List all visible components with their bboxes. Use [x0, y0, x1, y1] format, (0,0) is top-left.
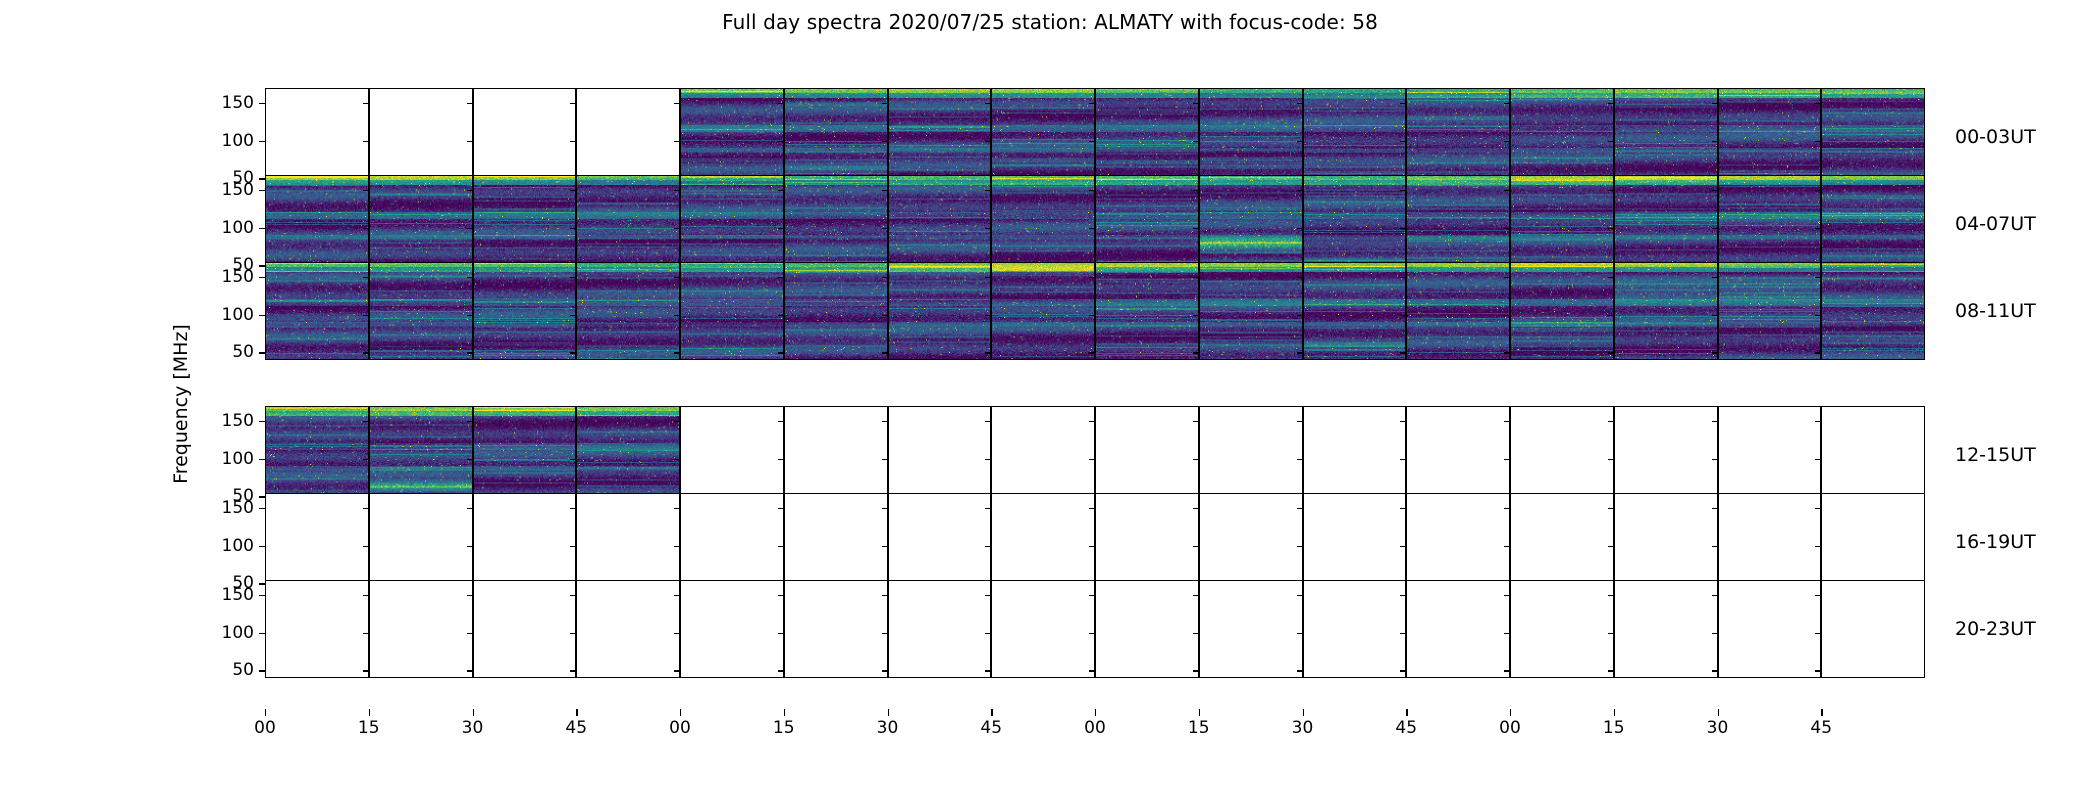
- spectrogram-panel[interactable]: [1303, 88, 1407, 186]
- y-tick-mark: [1297, 190, 1303, 191]
- y-tick-mark: [1297, 315, 1303, 316]
- spectrogram-panel[interactable]: [784, 88, 888, 186]
- y-tick-mark: [674, 103, 680, 104]
- y-tick-mark: [1400, 352, 1406, 353]
- x-tick-label: 45: [980, 718, 1002, 738]
- y-tick-mark: [363, 670, 369, 671]
- y-tick-mark: [570, 633, 576, 634]
- spectrogram-panel[interactable]: [1406, 175, 1510, 273]
- y-tick-mark: [1712, 352, 1718, 353]
- x-tick-label: 45: [1810, 718, 1832, 738]
- spectrogram-image: [1200, 263, 1302, 359]
- spectrogram-panel[interactable]: [1199, 175, 1303, 273]
- spectrogram-panel[interactable]: [473, 175, 577, 273]
- y-tick-mark: [1504, 277, 1510, 278]
- y-tick-mark: [1297, 421, 1303, 422]
- y-tick-mark: [363, 315, 369, 316]
- spectrogram-panel[interactable]: [576, 406, 680, 504]
- spectrogram-image: [1407, 263, 1509, 359]
- y-tick-mark: [570, 315, 576, 316]
- spectrogram-image: [1511, 89, 1613, 185]
- spectrogram-panel[interactable]: [473, 493, 577, 591]
- spectrogram-panel[interactable]: [1199, 88, 1303, 186]
- spectrogram-image: [785, 89, 887, 185]
- y-tick-mark: [1193, 352, 1199, 353]
- y-tick-mark: [363, 190, 369, 191]
- spectrogram-row: 50100150: [265, 262, 1925, 360]
- spectrogram-panel[interactable]: [1406, 262, 1510, 360]
- x-tick-mark: [888, 709, 889, 716]
- spectrogram-image: [681, 89, 783, 185]
- y-tick-mark: [1400, 141, 1406, 142]
- spectrogram-image: [1407, 89, 1509, 185]
- y-tick-mark: [985, 103, 991, 104]
- y-tick-mark: [1193, 508, 1199, 509]
- spectrogram-panel[interactable]: [680, 580, 784, 678]
- y-tick-mark: [467, 670, 473, 671]
- spectrogram-panel[interactable]: [369, 88, 473, 186]
- spectrogram-image: [1304, 176, 1406, 272]
- y-tick-mark: [674, 141, 680, 142]
- y-tick-mark: [467, 103, 473, 104]
- y-tick-mark: [1089, 141, 1095, 142]
- y-tick-mark: [1297, 459, 1303, 460]
- spectrogram-panel[interactable]: [1718, 175, 1822, 273]
- y-tick-mark: [778, 315, 784, 316]
- y-tick-mark: [363, 228, 369, 229]
- spectrogram-panel[interactable]: [1718, 88, 1822, 186]
- y-tick-mark: [363, 141, 369, 142]
- spectrogram-panel[interactable]: [369, 493, 473, 591]
- spectrogram-image: [577, 407, 679, 503]
- y-tick-mark: [467, 633, 473, 634]
- x-tick-mark: [1510, 709, 1511, 716]
- y-tick-mark: [363, 508, 369, 509]
- spectrogram-panel[interactable]: [1510, 88, 1614, 186]
- spectrogram-image: [785, 176, 887, 272]
- spectrogram-panel[interactable]: [1095, 88, 1199, 186]
- y-tick-mark: [1504, 595, 1510, 596]
- x-tick-label: 15: [358, 718, 380, 738]
- spectrogram-panel[interactable]: [1510, 406, 1614, 504]
- spectrogram-panel[interactable]: [1303, 406, 1407, 504]
- y-tick-mark: [363, 459, 369, 460]
- spectrogram-panel[interactable]: [576, 580, 680, 678]
- y-tick-mark: [882, 633, 888, 634]
- x-tick-label: 30: [1707, 718, 1729, 738]
- spectrogram-image: [1822, 176, 1924, 272]
- y-tick-mark: [1608, 508, 1614, 509]
- y-tick-mark: [467, 421, 473, 422]
- y-tick-mark: [1504, 315, 1510, 316]
- x-tick-mark: [680, 709, 681, 716]
- y-tick-mark: [985, 421, 991, 422]
- spectrogram-panel[interactable]: [1510, 493, 1614, 591]
- y-tick-mark: [882, 277, 888, 278]
- y-tick-mark: [778, 141, 784, 142]
- y-tick-mark: [882, 670, 888, 671]
- y-tick-mark: [1815, 421, 1821, 422]
- spectrogram-panel[interactable]: [1510, 580, 1614, 678]
- y-tick-mark: [674, 315, 680, 316]
- y-tick-mark: [1089, 508, 1095, 509]
- y-tick-mark: [1193, 595, 1199, 596]
- y-tick-mark: [882, 228, 888, 229]
- spectrogram-panel[interactable]: [1718, 493, 1822, 591]
- x-tick-mark: [265, 709, 266, 716]
- y-tick-mark: [1712, 595, 1718, 596]
- y-tick-mark: [674, 277, 680, 278]
- spectrogram-image: [266, 176, 368, 272]
- spectrogram-panel[interactable]: [1718, 580, 1822, 678]
- spectrogram-panel[interactable]: [784, 580, 888, 678]
- y-tick-mark: [882, 352, 888, 353]
- y-tick-mark: [1608, 352, 1614, 353]
- spectrogram-image: [992, 263, 1094, 359]
- spectrogram-panel[interactable]: [680, 88, 784, 186]
- y-tick-mark: [1712, 277, 1718, 278]
- y-tick-mark: [1089, 546, 1095, 547]
- x-tick-mark: [473, 709, 474, 716]
- spectrogram-panel[interactable]: [1303, 175, 1407, 273]
- y-tick-mark: [1297, 352, 1303, 353]
- y-tick-mark: [259, 103, 265, 104]
- y-tick-mark: [1815, 103, 1821, 104]
- y-tick-mark: [1608, 670, 1614, 671]
- y-tick-mark: [1815, 277, 1821, 278]
- spectrogram-panel[interactable]: [1406, 88, 1510, 186]
- spectrogram-image: [474, 263, 576, 359]
- y-tick-mark: [1712, 190, 1718, 191]
- y-tick-mark: [1712, 546, 1718, 547]
- y-tick-mark: [1193, 546, 1199, 547]
- x-tick-mark: [1718, 709, 1719, 716]
- spectrogram-panel[interactable]: [1095, 580, 1199, 678]
- x-tick-label: 15: [773, 718, 795, 738]
- spectrogram-panel[interactable]: [1718, 406, 1822, 504]
- y-tick-mark: [1815, 508, 1821, 509]
- x-tick-label: 30: [1292, 718, 1314, 738]
- y-tick-mark: [1297, 633, 1303, 634]
- y-tick-mark: [363, 546, 369, 547]
- y-tick-mark: [363, 277, 369, 278]
- spectrogram-panel[interactable]: [1614, 580, 1718, 678]
- y-tick-mark: [259, 670, 265, 671]
- spectrogram-panel[interactable]: [1821, 175, 1925, 273]
- spectrogram-image: [1200, 89, 1302, 185]
- y-tick-mark: [1815, 670, 1821, 671]
- y-tick-mark: [259, 633, 265, 634]
- y-tick-mark: [570, 421, 576, 422]
- y-tick-mark: [1608, 546, 1614, 547]
- y-tick-mark: [1504, 141, 1510, 142]
- spectrogram-panel[interactable]: [1406, 580, 1510, 678]
- y-tick-mark: [1608, 190, 1614, 191]
- spectrogram-panel[interactable]: [1303, 580, 1407, 678]
- x-tick-mark: [784, 709, 785, 716]
- y-tick-mark: [1193, 190, 1199, 191]
- y-tick-mark: [674, 352, 680, 353]
- spectrogram-panel[interactable]: [576, 493, 680, 591]
- spectrogram-image: [1096, 89, 1198, 185]
- spectrogram-row: 50100150: [265, 175, 1925, 273]
- spectrogram-panel[interactable]: [369, 406, 473, 504]
- spectrogram-panel[interactable]: [576, 262, 680, 360]
- y-tick-mark: [778, 421, 784, 422]
- y-tick-mark: [570, 277, 576, 278]
- y-tick-mark: [467, 459, 473, 460]
- y-tick-mark: [1504, 459, 1510, 460]
- y-tick-mark: [674, 595, 680, 596]
- spectrogram-panel[interactable]: [1199, 262, 1303, 360]
- spectrogram-panel[interactable]: [1614, 493, 1718, 591]
- y-tick-mark: [1400, 190, 1406, 191]
- y-tick-mark: [1608, 141, 1614, 142]
- y-tick-mark: [1297, 508, 1303, 509]
- spectrogram-panel[interactable]: [1199, 580, 1303, 678]
- y-tick-mark: [985, 508, 991, 509]
- x-tick-mark: [369, 709, 370, 716]
- spectrogram-panel[interactable]: [369, 175, 473, 273]
- spectrogram-row: 50100150: [265, 406, 1925, 504]
- spectrogram-panel[interactable]: [991, 175, 1095, 273]
- y-tick-mark: [1712, 508, 1718, 509]
- x-tick-mark: [1199, 709, 1200, 716]
- y-tick-mark: [570, 190, 576, 191]
- y-tick-mark: [1712, 103, 1718, 104]
- x-tick-label: 45: [1395, 718, 1417, 738]
- spectrogram-panel[interactable]: [991, 88, 1095, 186]
- y-tick-mark: [1608, 228, 1614, 229]
- spectrogram-panel[interactable]: [1406, 406, 1510, 504]
- spectrogram-panel[interactable]: [991, 580, 1095, 678]
- spectrogram-panel[interactable]: [1614, 175, 1718, 273]
- y-tick-mark: [1815, 633, 1821, 634]
- spectrogram-panel[interactable]: [888, 88, 992, 186]
- y-tick-mark: [1608, 459, 1614, 460]
- spectrogram-panel[interactable]: [888, 175, 992, 273]
- spectrogram-image: [1096, 263, 1198, 359]
- spectrogram-panel[interactable]: [1510, 262, 1614, 360]
- y-tick-mark: [985, 633, 991, 634]
- spectrogram-panel[interactable]: [784, 493, 888, 591]
- spectrogram-panel[interactable]: [1510, 175, 1614, 273]
- x-tick-mark: [1821, 709, 1822, 716]
- spectrogram-image: [681, 176, 783, 272]
- y-tick-mark: [1504, 670, 1510, 671]
- spectrogram-panel[interactable]: [680, 493, 784, 591]
- y-tick-mark: [1089, 190, 1095, 191]
- spectrogram-panel[interactable]: [888, 493, 992, 591]
- y-tick-mark: [985, 670, 991, 671]
- spectrogram-panel[interactable]: [888, 262, 992, 360]
- spectrogram-panel[interactable]: [265, 88, 369, 186]
- y-tick-mark: [778, 595, 784, 596]
- y-tick-mark: [1400, 595, 1406, 596]
- y-tick-mark: [778, 103, 784, 104]
- spectrogram-image: [1511, 263, 1613, 359]
- y-tick-mark: [1712, 141, 1718, 142]
- spectrogram-panel[interactable]: [265, 175, 369, 273]
- y-tick-mark: [1504, 421, 1510, 422]
- spectrogram-panel[interactable]: [1821, 262, 1925, 360]
- y-tick-mark: [1089, 352, 1095, 353]
- spectrogram-panel[interactable]: [1095, 406, 1199, 504]
- y-tick-mark: [1400, 633, 1406, 634]
- spectrogram-image: [889, 263, 991, 359]
- y-tick-mark: [1504, 228, 1510, 229]
- spectrogram-panel[interactable]: [1095, 175, 1199, 273]
- spectrogram-panel[interactable]: [576, 88, 680, 186]
- spectrogram-panel[interactable]: [473, 88, 577, 186]
- spectrogram-image: [266, 263, 368, 359]
- y-tick-mark: [674, 190, 680, 191]
- y-tick-mark: [1297, 546, 1303, 547]
- y-tick-mark: [1815, 459, 1821, 460]
- spectrogram-panel[interactable]: [1821, 580, 1925, 678]
- y-tick-mark: [1193, 421, 1199, 422]
- y-tick-mark: [363, 421, 369, 422]
- y-tick-mark: [1504, 508, 1510, 509]
- y-tick-mark: [1297, 670, 1303, 671]
- spectrogram-panel[interactable]: [784, 262, 888, 360]
- row-label-00-03ut: 00-03UT: [1955, 126, 2036, 148]
- y-axis-label: Frequency [MHz]: [170, 324, 192, 484]
- x-tick-label: 00: [669, 718, 691, 738]
- spectrogram-panel[interactable]: [369, 262, 473, 360]
- spectrogram-panel[interactable]: [888, 406, 992, 504]
- spectrogram-panel[interactable]: [784, 175, 888, 273]
- y-tick-mark: [674, 508, 680, 509]
- x-tick-mark: [1095, 709, 1096, 716]
- y-tick-mark: [1815, 228, 1821, 229]
- spectrogram-image: [889, 89, 991, 185]
- y-tick-mark: [674, 670, 680, 671]
- x-tick-label: 00: [1499, 718, 1521, 738]
- spectrogram-panel[interactable]: [680, 406, 784, 504]
- spectrogram-panel[interactable]: [576, 175, 680, 273]
- y-tick-mark: [259, 546, 265, 547]
- spectrogram-panel[interactable]: [473, 406, 577, 504]
- spectrogram-panel[interactable]: [1303, 493, 1407, 591]
- y-tick-mark: [1400, 508, 1406, 509]
- y-tick-mark: [985, 459, 991, 460]
- y-tick-mark: [259, 141, 265, 142]
- spectrogram-panel[interactable]: [1821, 406, 1925, 504]
- y-tick-mark: [674, 546, 680, 547]
- spectrogram-image: [1615, 176, 1717, 272]
- spectrogram-image: [370, 263, 472, 359]
- spectrogram-panel[interactable]: [473, 262, 577, 360]
- y-tick-mark: [778, 459, 784, 460]
- spectrogram-panel[interactable]: [265, 262, 369, 360]
- y-tick-mark: [363, 103, 369, 104]
- spectrogram-panel[interactable]: [991, 406, 1095, 504]
- y-tick-mark: [1089, 670, 1095, 671]
- y-tick-mark: [1400, 277, 1406, 278]
- y-tick-mark: [1504, 190, 1510, 191]
- y-tick-mark: [1608, 277, 1614, 278]
- y-tick-mark: [259, 277, 265, 278]
- spectrogram-image: [1407, 176, 1509, 272]
- spectrogram-panel[interactable]: [991, 493, 1095, 591]
- spectrogram-panel[interactable]: [1199, 493, 1303, 591]
- y-tick-mark: [1608, 103, 1614, 104]
- spectrogram-panel[interactable]: [473, 580, 577, 678]
- y-tick-mark: [1712, 633, 1718, 634]
- spectrogram-image: [1200, 176, 1302, 272]
- spectrogram-panel[interactable]: [1821, 493, 1925, 591]
- y-tick-mark: [467, 141, 473, 142]
- y-tick-mark: [882, 103, 888, 104]
- y-tick-mark: [1297, 228, 1303, 229]
- spectrogram-panel[interactable]: [1199, 406, 1303, 504]
- spectrogram-panel[interactable]: [784, 406, 888, 504]
- y-tick-mark: [1089, 595, 1095, 596]
- y-tick-mark: [259, 459, 265, 460]
- spectrogram-image: [785, 263, 887, 359]
- y-tick-mark: [1297, 141, 1303, 142]
- spectrogram-panel[interactable]: [991, 262, 1095, 360]
- spectrogram-image: [577, 176, 679, 272]
- y-tick-mark: [1504, 352, 1510, 353]
- y-tick-mark: [1504, 633, 1510, 634]
- spectrogram-image: [474, 176, 576, 272]
- spectrogram-panel[interactable]: [1095, 493, 1199, 591]
- y-tick-mark: [259, 352, 265, 353]
- x-tick-mark: [1303, 709, 1304, 716]
- y-tick-mark: [259, 421, 265, 422]
- spectrogram-image: [1822, 263, 1924, 359]
- x-tick-mark: [1614, 709, 1615, 716]
- spectrogram-panel[interactable]: [680, 262, 784, 360]
- spectrogram-panel[interactable]: [1718, 262, 1822, 360]
- spectrogram-panel[interactable]: [1406, 493, 1510, 591]
- spectrogram-image: [1615, 89, 1717, 185]
- y-tick-mark: [467, 190, 473, 191]
- spectrogram-panel[interactable]: [1303, 262, 1407, 360]
- y-tick-mark: [882, 190, 888, 191]
- y-tick-mark: [259, 315, 265, 316]
- spectrogram-panel[interactable]: [265, 580, 369, 678]
- y-tick-mark: [985, 315, 991, 316]
- y-tick-mark: [985, 277, 991, 278]
- y-tick-mark: [467, 352, 473, 353]
- spectrogram-panel[interactable]: [369, 580, 473, 678]
- spectrogram-panel[interactable]: [265, 406, 369, 504]
- spectrogram-panel[interactable]: [1614, 262, 1718, 360]
- spectrogram-image: [370, 176, 472, 272]
- x-tick-label: 15: [1188, 718, 1210, 738]
- spectrogram-panel[interactable]: [265, 493, 369, 591]
- y-tick-mark: [674, 228, 680, 229]
- spectrogram-panel[interactable]: [1614, 88, 1718, 186]
- spectrogram-panel[interactable]: [1095, 262, 1199, 360]
- x-tick-label: 30: [877, 718, 899, 738]
- y-tick-mark: [882, 141, 888, 142]
- spectrogram-panel[interactable]: [1614, 406, 1718, 504]
- spectrogram-panel[interactable]: [1821, 88, 1925, 186]
- y-tick-mark: [1712, 459, 1718, 460]
- y-tick-mark: [1297, 277, 1303, 278]
- spectrogram-panel[interactable]: [888, 580, 992, 678]
- spectrogram-panel[interactable]: [680, 175, 784, 273]
- y-tick-mark: [1504, 103, 1510, 104]
- y-tick-mark: [1193, 228, 1199, 229]
- x-tick-label: 00: [254, 718, 276, 738]
- y-tick-mark: [1815, 190, 1821, 191]
- y-tick-mark: [1089, 459, 1095, 460]
